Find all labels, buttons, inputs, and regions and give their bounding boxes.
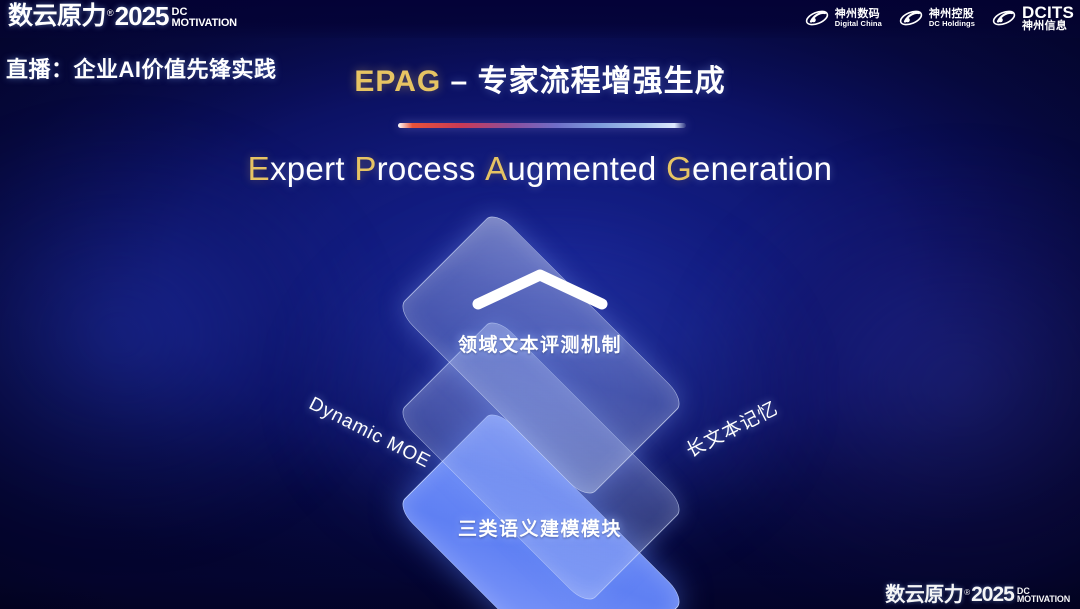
partner-cn-dcits: 神州信息	[1022, 21, 1074, 33]
brand-logo-year: 2025	[115, 3, 169, 29]
partner-logo-dc-holdings: 神州控股 DC Holdings	[898, 6, 975, 30]
watermark-registered-mark: ®	[964, 589, 970, 597]
expansion-cap-a: A	[485, 150, 507, 187]
partner-label-dcits: DCITS 神州信息	[1022, 4, 1074, 33]
brand-logo: 数云原力 ® 2025 DC MOTIVATION	[8, 3, 237, 29]
expansion-space-3	[657, 150, 666, 187]
brand-logo-motivation: MOTIVATION	[172, 18, 237, 28]
expansion-rest-augmented: ugmented	[507, 150, 656, 187]
swirl-logo-icon	[804, 6, 830, 30]
partner-en-digital-china: Digital China	[835, 20, 882, 28]
swirl-logo-icon	[991, 6, 1017, 30]
expansion-cap-g: G	[666, 150, 692, 187]
page-title: EPAG – 专家流程增强生成	[0, 56, 1080, 100]
brand-logo-registered-mark: ®	[107, 9, 114, 18]
watermark-cn: 数云原力	[885, 585, 963, 605]
expansion-rest-expert: xpert	[270, 150, 345, 187]
partner-label-dc-holdings: 神州控股 DC Holdings	[929, 9, 975, 28]
partner-logo-dcits: DCITS 神州信息	[991, 4, 1074, 33]
expansion-rest-generation: eneration	[692, 150, 832, 187]
partner-logo-group: 神州数码 Digital China 神州控股 DC Holdings	[804, 4, 1074, 33]
page-title-acronym: EPAG	[354, 65, 441, 98]
diagram-layer-top-label: 领域文本评测机制	[290, 330, 790, 357]
slide-canvas: 数云原力 ® 2025 DC MOTIVATION 直播：企业AI价值先锋实践 …	[0, 0, 1080, 609]
swirl-logo-icon	[898, 6, 924, 30]
partner-logo-digital-china: 神州数码 Digital China	[804, 6, 882, 30]
brand-logo-cn: 数云原力	[8, 4, 106, 29]
diagram-layer-bottom-label: 三类语义建模模块	[290, 514, 790, 541]
partner-en-dcits: DCITS	[1022, 4, 1074, 21]
expansion-space-1	[345, 150, 354, 187]
expansion-cap-p: P	[354, 150, 376, 187]
chevron-up-icon	[468, 266, 612, 312]
partner-en-dc-holdings: DC Holdings	[929, 20, 975, 28]
expansion-cap-e: E	[248, 150, 270, 187]
watermark-dc-motivation: DC MOTIVATION	[1017, 587, 1070, 604]
footer-watermark-logo: 数云原力 ® 2025 DC MOTIVATION	[885, 584, 1070, 605]
title-divider	[398, 123, 686, 128]
acronym-expansion: Expert Process Augmented Generation	[0, 150, 1080, 188]
brand-logo-dc: DC	[172, 7, 237, 17]
layered-architecture-diagram: 领域文本评测机制 Dynamic MOE 长文本记忆 三类语义建模模块	[290, 222, 790, 562]
watermark-motivation: MOTIVATION	[1017, 595, 1070, 604]
diagram-layer-middle-label-right: 长文本记忆	[681, 393, 782, 462]
expansion-rest-process: rocess	[377, 150, 476, 187]
partner-label-digital-china: 神州数码 Digital China	[835, 9, 882, 28]
page-title-chinese: – 专家流程增强生成	[441, 65, 725, 98]
expansion-space-2	[476, 150, 485, 187]
brand-logo-dc-motivation: DC MOTIVATION	[172, 7, 237, 28]
watermark-year: 2025	[971, 584, 1014, 605]
